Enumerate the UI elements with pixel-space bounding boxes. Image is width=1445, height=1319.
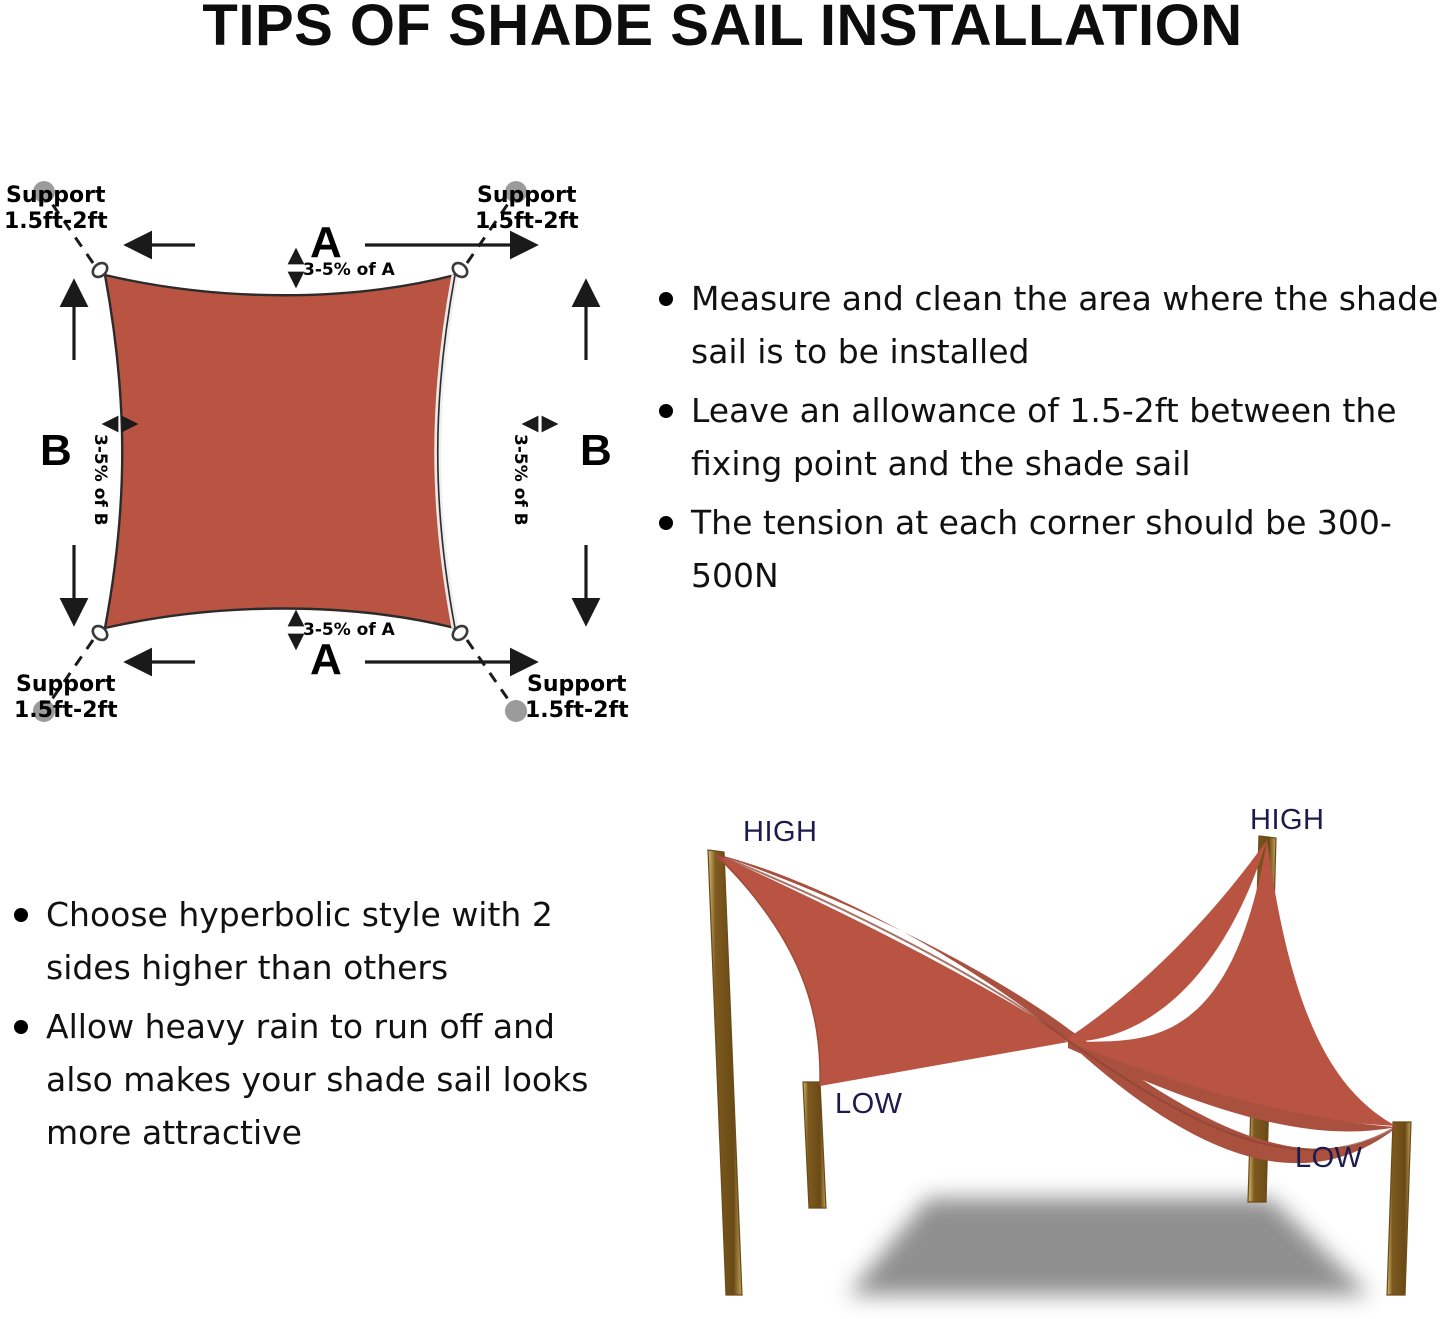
- curvature-label-top: 3-5% of A: [303, 260, 395, 280]
- dimension-label-left-B: B: [40, 426, 72, 476]
- support-label-line1: Support: [475, 183, 579, 209]
- support-label-bottom-left: Support 1.5ft-2ft: [14, 672, 118, 724]
- list-item: Choose hyperbolic style with 2 sides hig…: [0, 888, 620, 994]
- installation-tips-list: Measure and clean the area where the sha…: [645, 272, 1445, 608]
- sail-panel-left-lower: [716, 856, 1068, 1086]
- hyperbolic-sail-diagram: HIGH HIGH LOW LOW: [670, 790, 1445, 1319]
- ground-shadow: [848, 1198, 1370, 1295]
- list-item: The tension at each corner should be 300…: [645, 496, 1445, 602]
- curvature-label-left: 3-5% of B: [90, 434, 110, 526]
- support-label-bottom-right: Support 1.5ft-2ft: [525, 672, 629, 724]
- shade-sail-shape: [105, 275, 455, 628]
- curvature-label-right: 3-5% of B: [510, 434, 530, 526]
- hyperbolic-sail-graphic: [670, 790, 1445, 1319]
- support-label-top-left: Support 1.5ft-2ft: [4, 183, 108, 235]
- post-high-left: [708, 850, 742, 1295]
- support-label-line2: 1.5ft-2ft: [525, 698, 629, 724]
- support-label-line1: Support: [14, 672, 118, 698]
- list-item: Allow heavy rain to run off and also mak…: [0, 1000, 620, 1159]
- label-high-right: HIGH: [1250, 804, 1325, 837]
- dimension-label-right-B: B: [580, 426, 612, 476]
- curvature-label-bottom: 3-5% of A: [303, 620, 395, 640]
- post-low-left: [803, 1082, 826, 1208]
- label-low-right: LOW: [1295, 1142, 1363, 1175]
- post-low-right: [1387, 1122, 1411, 1295]
- support-dot-icon: [505, 700, 527, 722]
- list-item: Leave an allowance of 1.5-2ft between th…: [645, 384, 1445, 490]
- support-label-line2: 1.5ft-2ft: [4, 209, 108, 235]
- label-low-left: LOW: [835, 1088, 903, 1121]
- support-label-top-right: Support 1.5ft-2ft: [475, 183, 579, 235]
- hyperbolic-style-tips-list: Choose hyperbolic style with 2 sides hig…: [0, 888, 620, 1165]
- rect-sail-diagram: Support 1.5ft-2ft Support 1.5ft-2ft Supp…: [0, 150, 660, 750]
- label-high-left: HIGH: [743, 816, 818, 849]
- list-item: Measure and clean the area where the sha…: [645, 272, 1445, 378]
- support-label-line2: 1.5ft-2ft: [14, 698, 118, 724]
- page-title: TIPS OF SHADE SAIL INSTALLATION: [0, 0, 1445, 58]
- support-label-line1: Support: [4, 183, 108, 209]
- dimension-label-bottom-A: A: [310, 635, 342, 685]
- support-label-line2: 1.5ft-2ft: [475, 209, 579, 235]
- support-label-line1: Support: [525, 672, 629, 698]
